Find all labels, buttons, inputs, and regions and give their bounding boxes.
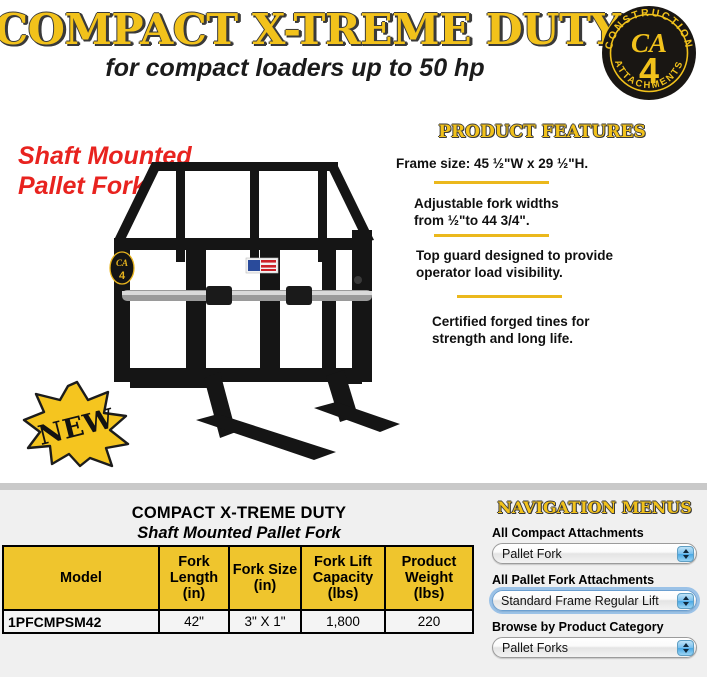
cell-fork-length: 42" — [159, 610, 229, 633]
svg-text:4: 4 — [119, 270, 126, 282]
select-all-compact-attachments[interactable]: Pallet Fork — [492, 543, 697, 564]
ca4-logo-icon: CONSTRUCTION ATTACHMENTS CA 4 — [600, 4, 698, 102]
cell-lift-capacity: 1,800 — [301, 610, 385, 633]
chevron-down-icon — [683, 649, 689, 653]
product-showcase: Shaft Mounted Pallet Fork — [0, 110, 707, 473]
table-row: 1PFCMPSM42 42" 3" X 1" 1,800 220 — [3, 610, 473, 633]
svg-text:CA: CA — [116, 258, 128, 268]
nav-group-pallet-fork-attachments: All Pallet Fork Attachments Standard Fra… — [492, 573, 697, 611]
spec-heading-line1: COMPACT X-TREME DUTY — [0, 504, 478, 523]
feature-divider — [457, 295, 562, 298]
stepper-arrows-icon[interactable] — [677, 593, 694, 609]
cell-model: 1PFCMPSM42 — [3, 610, 159, 633]
feature-item-forged-tines: Certified forged tines for strength and … — [432, 313, 590, 348]
spec-table-heading: COMPACT X-TREME DUTY Shaft Mounted Palle… — [0, 504, 478, 543]
stepper-arrows-icon[interactable] — [677, 546, 694, 562]
col-product-weight: Product Weight (lbs) — [385, 546, 473, 610]
specifications-table: Model Fork Length (in) Fork Size (in) Fo… — [2, 545, 474, 634]
nav-label-compact-attachments: All Compact Attachments — [492, 526, 697, 540]
page-header: COMPACT X-TREME DUTY for compact loaders… — [0, 0, 707, 110]
stepper-arrows-icon[interactable] — [677, 640, 694, 656]
page-subtitle: for compact loaders up to 50 hp — [0, 54, 590, 83]
pallet-fork-product-image: CA 4 — [100, 120, 405, 468]
select-value: Pallet Forks — [493, 641, 568, 655]
chevron-up-icon — [683, 549, 689, 553]
ca-logo-plate-icon: CA 4 — [110, 252, 134, 284]
nav-label-product-category: Browse by Product Category — [492, 620, 697, 634]
feature-item-adjustable-widths: Adjustable fork widths from ½"to 44 3/4"… — [414, 195, 559, 230]
usa-flag-sticker — [246, 258, 278, 273]
select-browse-by-product-category[interactable]: Pallet Forks — [492, 637, 697, 658]
feature-divider — [434, 234, 549, 237]
col-fork-size: Fork Size (in) — [229, 546, 301, 610]
chevron-down-icon — [683, 602, 689, 606]
spec-heading-line2: Shaft Mounted Pallet Fork — [0, 524, 478, 543]
page-title: COMPACT X-TREME DUTY — [0, 8, 596, 52]
product-features-panel: PRODUCT FEATURES Frame size: 45 ½"W x 29… — [392, 110, 692, 142]
select-value: Standard Frame Regular Lift — [493, 594, 659, 608]
title-block: COMPACT X-TREME DUTY for compact loaders… — [0, 8, 590, 83]
col-fork-length: Fork Length (in) — [159, 546, 229, 610]
select-value: Pallet Fork — [493, 547, 562, 561]
product-features-title: PRODUCT FEATURES — [392, 122, 692, 142]
cell-fork-size: 3" X 1" — [229, 610, 301, 633]
chevron-down-icon — [683, 555, 689, 559]
feature-item-top-guard: Top guard designed to provide operator l… — [416, 247, 613, 282]
svg-text:4: 4 — [639, 50, 659, 91]
navigation-menus-title: NAVIGATION MENUS — [492, 498, 697, 517]
spacer — [0, 473, 707, 483]
nav-group-compact-attachments: All Compact Attachments Pallet Fork — [492, 526, 697, 564]
nav-group-product-category: Browse by Product Category Pallet Forks — [492, 620, 697, 658]
feature-item-frame-size: Frame size: 45 ½"W x 29 ½"H. — [396, 155, 588, 172]
col-lift-capacity: Fork Lift Capacity (lbs) — [301, 546, 385, 610]
nav-label-pallet-fork-attachments: All Pallet Fork Attachments — [492, 573, 697, 587]
select-all-pallet-fork-attachments[interactable]: Standard Frame Regular Lift — [492, 590, 697, 611]
cell-product-weight: 220 — [385, 610, 473, 633]
col-model: Model — [3, 546, 159, 610]
chevron-up-icon — [683, 643, 689, 647]
feature-divider — [434, 181, 549, 184]
navigation-menus-panel: NAVIGATION MENUS All Compact Attachments… — [492, 498, 697, 667]
new-badge-icon: NEW — [22, 380, 132, 468]
chevron-up-icon — [683, 596, 689, 600]
table-header-row: Model Fork Length (in) Fork Size (in) Fo… — [3, 546, 473, 610]
section-divider — [0, 483, 707, 490]
